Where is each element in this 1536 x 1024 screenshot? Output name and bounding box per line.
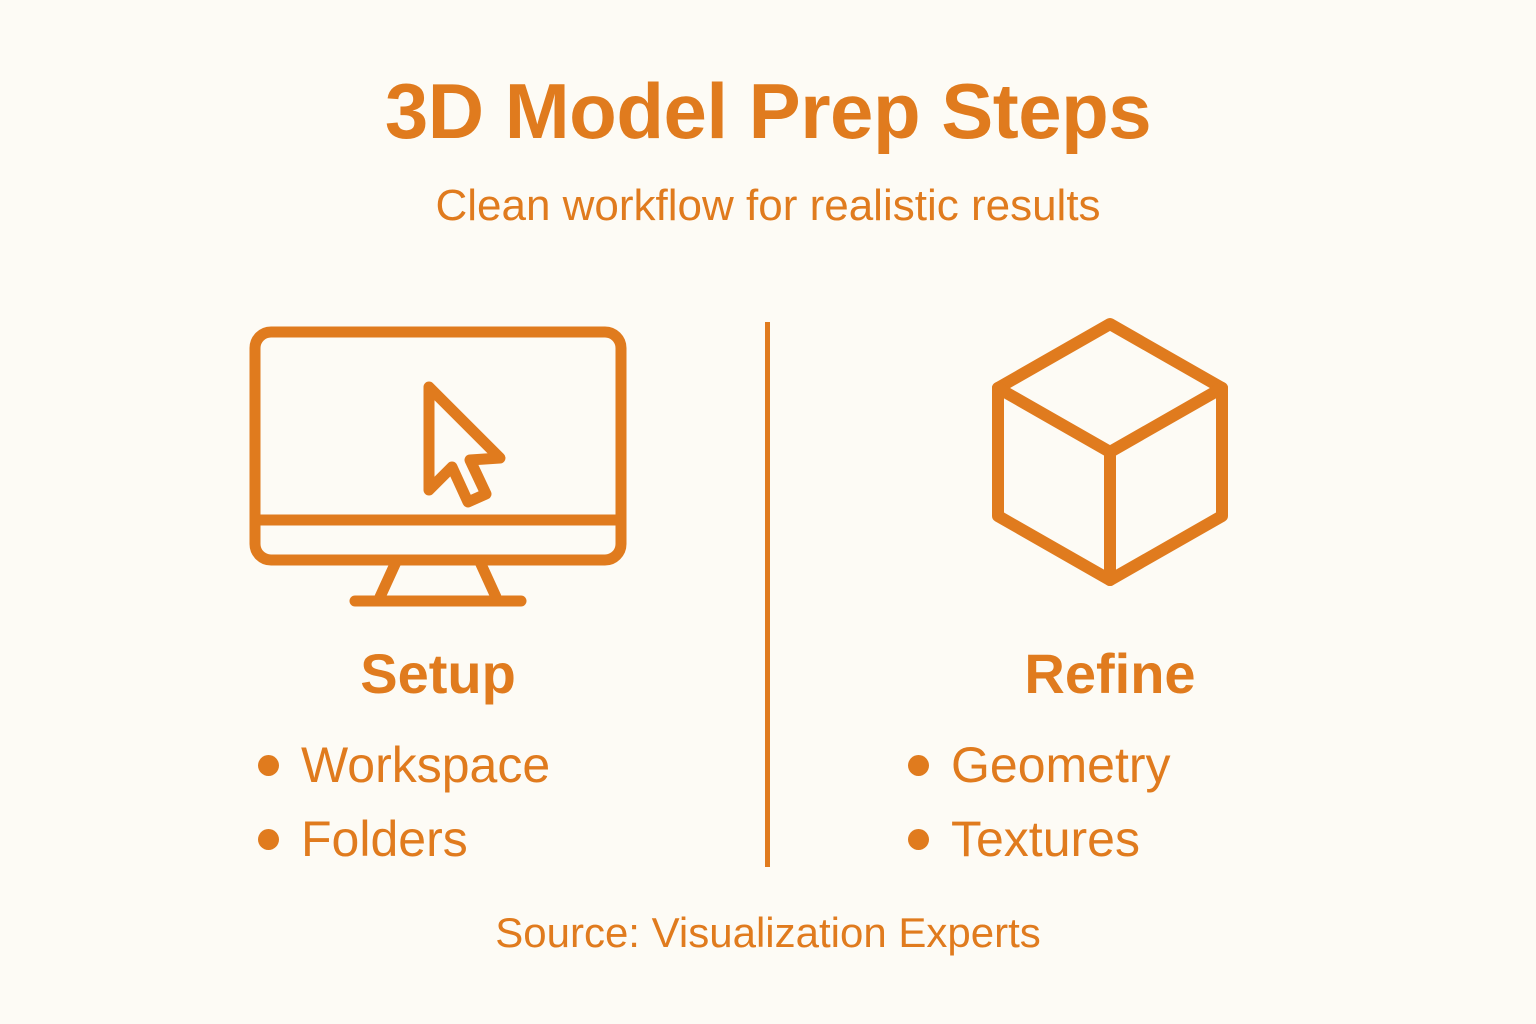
bullet-label: Geometry (951, 740, 1171, 790)
column-divider (765, 322, 770, 867)
list-item: Textures (908, 802, 1430, 876)
header: 3D Model Prep Steps Clean workflow for r… (0, 72, 1536, 228)
source-attribution: Source: Visualization Experts (0, 912, 1536, 954)
list-item: Geometry (908, 728, 1430, 802)
column-refine: Refine Geometry Textures (790, 312, 1430, 882)
infographic-card: 3D Model Prep Steps Clean workflow for r… (0, 0, 1536, 1024)
column-heading-setup: Setup (118, 622, 758, 702)
bullet-label: Workspace (301, 740, 550, 790)
bullet-label: Textures (951, 814, 1140, 864)
page-subtitle: Clean workflow for realistic results (0, 150, 1536, 228)
footer: Source: Visualization Experts (0, 912, 1536, 954)
list-item: Folders (258, 802, 758, 876)
bullet-list-refine: Geometry Textures (790, 702, 1430, 876)
bullet-dot-icon (908, 829, 929, 850)
column-heading-refine: Refine (790, 622, 1430, 702)
bullet-label: Folders (301, 814, 468, 864)
cube-3d-icon (790, 312, 1430, 622)
page-title: 3D Model Prep Steps (0, 72, 1536, 150)
monitor-cursor-icon (118, 312, 758, 622)
column-setup: Setup Workspace Folders (118, 312, 758, 882)
cube-3d-icon-svg (980, 312, 1240, 612)
bullet-dot-icon (258, 755, 279, 776)
monitor-cursor-icon-svg (248, 312, 628, 612)
bullet-dot-icon (258, 829, 279, 850)
list-item: Workspace (258, 728, 758, 802)
bullet-list-setup: Workspace Folders (118, 702, 758, 876)
bullet-dot-icon (908, 755, 929, 776)
